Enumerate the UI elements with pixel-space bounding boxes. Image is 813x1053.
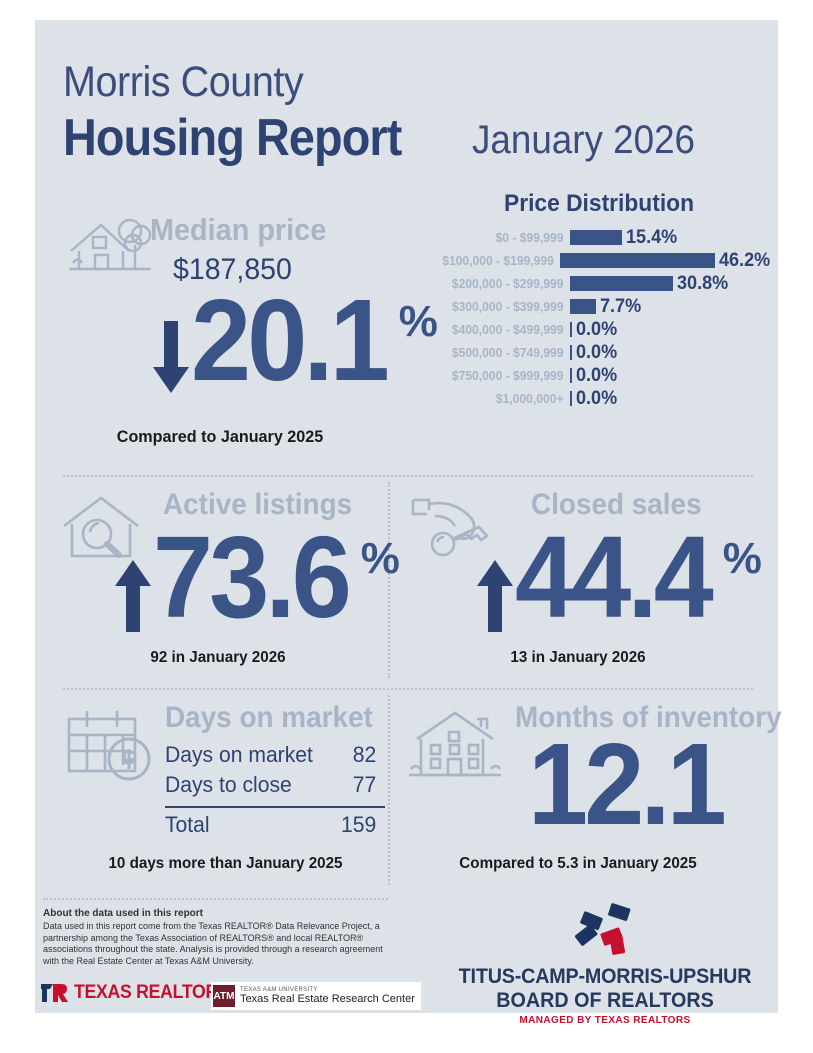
months-of-inventory-footnote: Compared to 5.3 in January 2025 [412, 855, 745, 873]
tamu-text: TEXAS A&M UNIVERSITY Texas Real Estate R… [240, 987, 415, 1005]
arrow-down-icon [151, 321, 191, 395]
price-bracket-bar [570, 276, 673, 291]
tamu-square-icon: ATM [213, 985, 235, 1007]
months-of-inventory-value: 12.1 [528, 731, 723, 838]
price-bracket-value: 0.0% [576, 365, 617, 387]
price-bracket-bar [570, 368, 572, 383]
about-body: Data used in this report come from the T… [43, 921, 388, 967]
price-distribution-row: $100,000 - $199,99946.2% [413, 249, 773, 272]
table-row: Days on market 82 [165, 740, 376, 770]
row-label: Days on market [165, 740, 313, 770]
price-bracket-bar [570, 230, 622, 245]
days-on-market-panel: Days on market Days on market 82 Days to… [53, 695, 388, 885]
price-bracket-bar [570, 391, 572, 406]
price-bracket-label: $500,000 - $749,999 [424, 345, 570, 360]
tamu-line2: Texas Real Estate Research Center [240, 993, 415, 1005]
price-bracket-value: 30.8% [677, 273, 728, 295]
price-distribution-row: $1,000,000+0.0% [413, 387, 773, 410]
board-name-line2: BOARD OF REALTORS [445, 989, 765, 1013]
board-pinwheel-icon [560, 947, 650, 964]
row-label: Days to close [165, 770, 292, 800]
active-listings-change: 73.6 % [113, 524, 400, 632]
board-name-line1: TITUS-CAMP-MORRIS-UPSHUR [445, 965, 765, 989]
months-of-inventory-panel: Months of inventory 12.1 Compared to 5.3… [403, 695, 753, 885]
tamu-research-center-logo: ATM TEXAS A&M UNIVERSITY Texas Real Esta… [211, 982, 421, 1010]
texas-realtors-wordmark: TEXAS REALTORS [74, 982, 229, 1004]
price-bracket-value: 7.7% [600, 296, 641, 318]
price-bracket-label: $100,000 - $199,999 [423, 253, 560, 268]
price-distribution-row: $500,000 - $749,9990.0% [413, 341, 773, 364]
median-price-change: 20.1 % [151, 287, 438, 395]
price-bracket-bar [570, 345, 572, 360]
arrow-up-icon [113, 558, 153, 632]
report-date: January 2026 [472, 118, 695, 163]
price-bracket-bar [570, 322, 572, 337]
closed-sales-change: 44.4 % [475, 524, 762, 632]
price-distribution-rows: $0 - $99,99915.4%$100,000 - $199,99946.2… [413, 226, 773, 410]
median-price-footnote: Compared to January 2025 [63, 427, 377, 447]
active-listings-footnote: 92 in January 2026 [61, 649, 375, 667]
active-listings-panel: Active listings 73.6 % 92 in January 202… [53, 482, 383, 682]
row-value: 82 [353, 740, 377, 770]
price-distribution-row: $200,000 - $299,99930.8% [413, 272, 773, 295]
days-on-market-footnote: 10 days more than January 2025 [62, 855, 390, 873]
divider-horizontal-top [63, 475, 753, 477]
days-on-market-table: Days on market 82 Days to close 77 Total… [165, 740, 385, 840]
board-tagline: MANAGED BY TEXAS REALTORS [435, 1015, 775, 1026]
house-tree-icon [67, 211, 157, 273]
about-section: About the data used in this report Data … [43, 908, 388, 967]
table-total-row: Total 159 [165, 810, 376, 840]
apartment-building-icon [407, 709, 503, 790]
active-listings-change-value: 73.6 [153, 524, 348, 631]
closed-sales-footnote: 13 in January 2026 [412, 649, 745, 667]
calendar-dollar-icon [65, 707, 157, 790]
page-title-report: Housing Report [63, 108, 401, 168]
price-distribution-row: $300,000 - $399,9997.7% [413, 295, 773, 318]
price-bracket-value: 0.0% [576, 388, 617, 410]
price-bracket-value: 0.0% [576, 319, 617, 341]
closed-sales-change-value: 44.4 [515, 524, 710, 631]
price-distribution-chart: Price Distribution $0 - $99,99915.4%$100… [413, 190, 773, 410]
price-bracket-value: 46.2% [719, 250, 770, 272]
active-listings-percent-sign: % [361, 534, 400, 584]
total-value: 159 [341, 810, 376, 840]
closed-sales-percent-sign: % [723, 534, 762, 584]
price-bracket-bar [570, 299, 596, 314]
median-price-change-value: 20.1 [191, 287, 386, 394]
days-on-market-label: Days on market [165, 701, 373, 735]
total-label: Total [165, 810, 210, 840]
row-value: 77 [353, 770, 377, 800]
price-bracket-label: $300,000 - $399,999 [424, 299, 570, 314]
price-bracket-label: $200,000 - $299,999 [424, 276, 570, 291]
price-bracket-value: 0.0% [576, 342, 617, 364]
table-rule [165, 806, 385, 808]
price-distribution-row: $0 - $99,99915.4% [413, 226, 773, 249]
price-bracket-label: $0 - $99,999 [424, 230, 570, 245]
divider-horizontal-bottom [63, 688, 753, 690]
price-bracket-label: $400,000 - $499,999 [424, 322, 570, 337]
median-price-label: Median price [150, 212, 326, 248]
arrow-up-icon [475, 558, 515, 632]
price-bracket-bar [560, 253, 715, 268]
price-distribution-title: Price Distribution [434, 190, 765, 218]
price-bracket-value: 15.4% [626, 227, 677, 249]
board-of-realtors-logo: TITUS-CAMP-MORRIS-UPSHUR BOARD OF REALTO… [435, 900, 775, 1026]
closed-sales-panel: Closed sales 44.4 % 13 in January 2026 [403, 482, 753, 682]
price-distribution-row: $750,000 - $999,9990.0% [413, 364, 773, 387]
report-page: Morris County Housing Report January 202… [35, 20, 778, 1013]
texas-realtors-mark-icon [40, 982, 68, 1004]
price-distribution-row: $400,000 - $499,9990.0% [413, 318, 773, 341]
page-title-county: Morris County [63, 58, 303, 107]
divider-horizontal-footer [43, 898, 388, 900]
median-price-panel: Median price $187,850 20.1 % Compared to… [55, 195, 415, 460]
about-title: About the data used in this report [43, 908, 388, 919]
price-bracket-label: $750,000 - $999,999 [424, 368, 570, 383]
table-row: Days to close 77 [165, 770, 376, 800]
price-bracket-label: $1,000,000+ [424, 391, 570, 406]
